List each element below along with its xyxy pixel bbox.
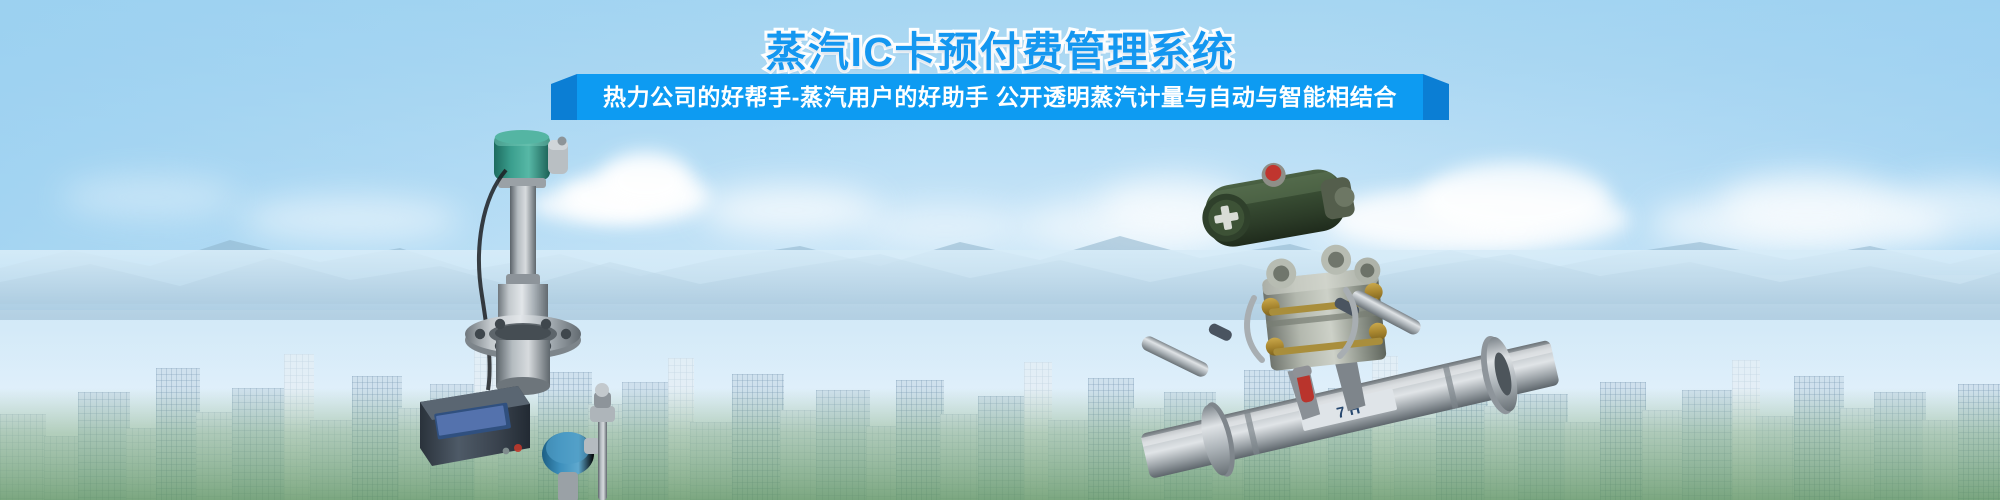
- city-skyline: [0, 250, 2000, 500]
- flowmeter-neck: [510, 186, 536, 278]
- orifice-plate-flowmeter-assembly: 7 H: [1150, 138, 1570, 500]
- differential-pressure-transmitter: [1195, 150, 1360, 252]
- banner-title-wrap: 蒸汽IC卡预付费管理系统: [0, 18, 2000, 78]
- tree-line: [0, 388, 2000, 500]
- subtitle-ribbon: 热力公司的好帮手-蒸汽用户的好助手 公开透明蒸汽计量与自动与智能相结合: [577, 74, 1423, 120]
- page-title: 蒸汽IC卡预付费管理系统: [766, 18, 1235, 78]
- banner-stage: 蒸汽IC卡预付费管理系统 热力公司的好帮手-蒸汽用户的好助手 公开透明蒸汽计量与…: [0, 0, 2000, 500]
- vortex-steam-flowmeter: [448, 128, 678, 500]
- ribbon-tail-right: [1423, 74, 1449, 120]
- pressure-temperature-transmitter: [542, 432, 600, 500]
- subtitle-text: 热力公司的好帮手-蒸汽用户的好助手 公开透明蒸汽计量与自动与智能相结合: [603, 86, 1397, 109]
- ribbon-tail-left: [551, 74, 577, 120]
- flowmeter-head: [494, 130, 568, 188]
- manifold-handle-left: [1139, 322, 1233, 379]
